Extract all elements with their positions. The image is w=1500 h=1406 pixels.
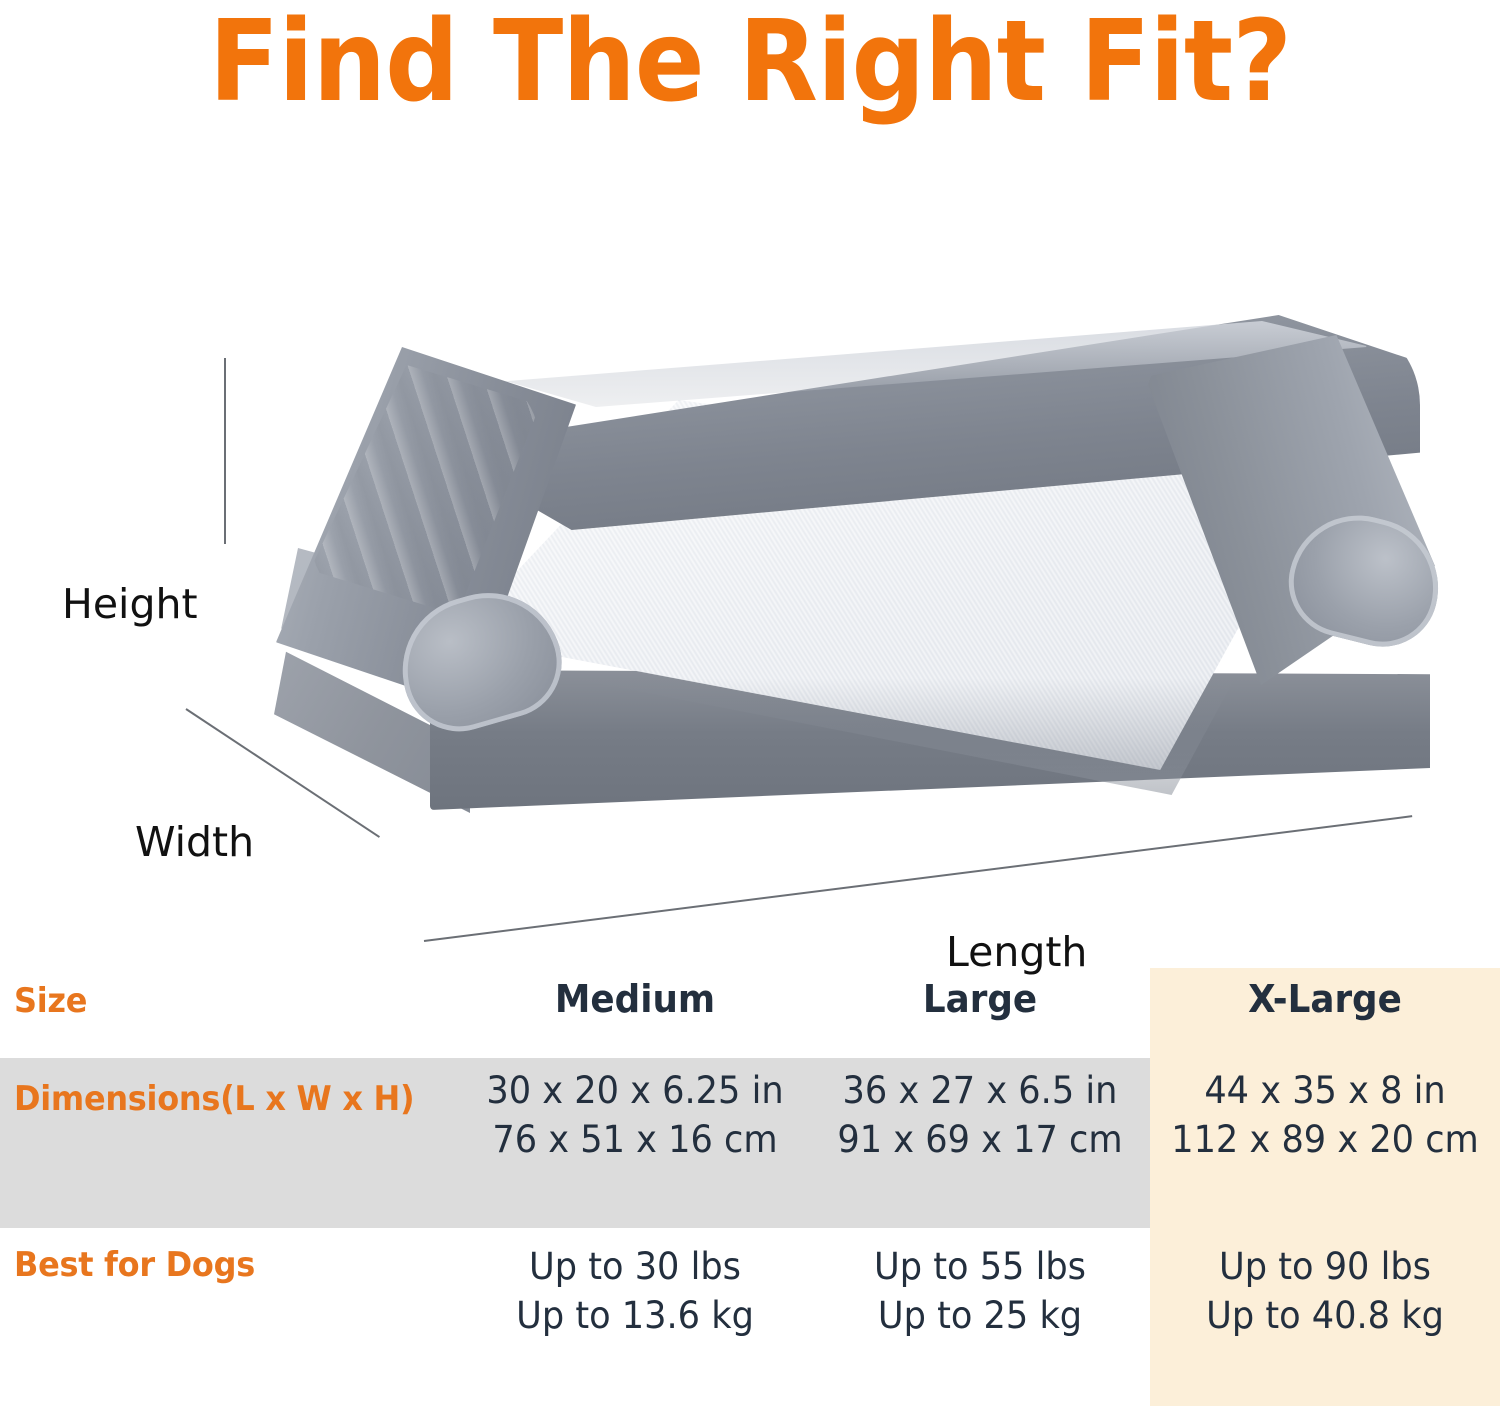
height-guide-line [224,358,226,544]
height-label: Height [62,580,198,628]
cell-dimensions-medium: 30 x 20 x 6.25 in 76 x 51 x 16 cm [450,1067,821,1165]
width-label: Width [135,818,254,866]
cell-dimensions-xlarge: 44 x 35 x 8 in 112 x 89 x 20 cm [1159,1067,1492,1165]
size-spec-table: Size Medium Large X-Large Dimensions(L x… [0,955,1500,1406]
table-row-label-best-for-dogs: Best for Dogs [14,1245,255,1285]
product-illustration: Height Width Length [0,150,1500,940]
column-header-medium: Medium [452,977,819,1021]
cell-dimensions-large: 36 x 27 x 6.5 in 91 x 69 x 17 cm [809,1067,1151,1165]
length-guide-line [424,815,1412,942]
column-header-xlarge: X-Large [1161,977,1490,1021]
table-row-label-dimensions: Dimensions(L x W x H) [14,1079,414,1119]
column-header-large: Large [811,977,1149,1021]
page-title: Find The Right Fit? [60,2,1440,123]
cell-best-for-dogs-xlarge: Up to 90 lbs Up to 40.8 kg [1159,1243,1492,1341]
table-row-label-size: Size [14,981,87,1021]
dog-bed-image [250,305,1430,815]
cell-best-for-dogs-large: Up to 55 lbs Up to 25 kg [809,1243,1151,1341]
cell-best-for-dogs-medium: Up to 30 lbs Up to 13.6 kg [450,1243,821,1341]
